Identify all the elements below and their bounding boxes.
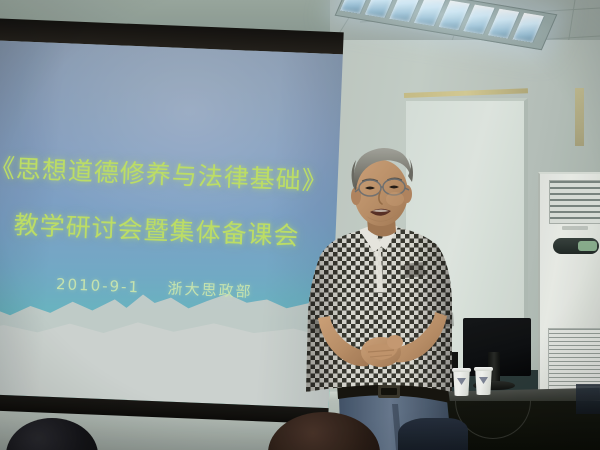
audience-shoulder-right <box>398 418 468 450</box>
photo-scene: 《思想道德修养与法律基础》 教学研讨会暨集体备课会 2010-9-1 浙大思政部 <box>0 0 600 450</box>
presenter-head <box>351 148 413 226</box>
audience-shoulder-corner <box>576 384 600 414</box>
presenter <box>0 0 600 450</box>
